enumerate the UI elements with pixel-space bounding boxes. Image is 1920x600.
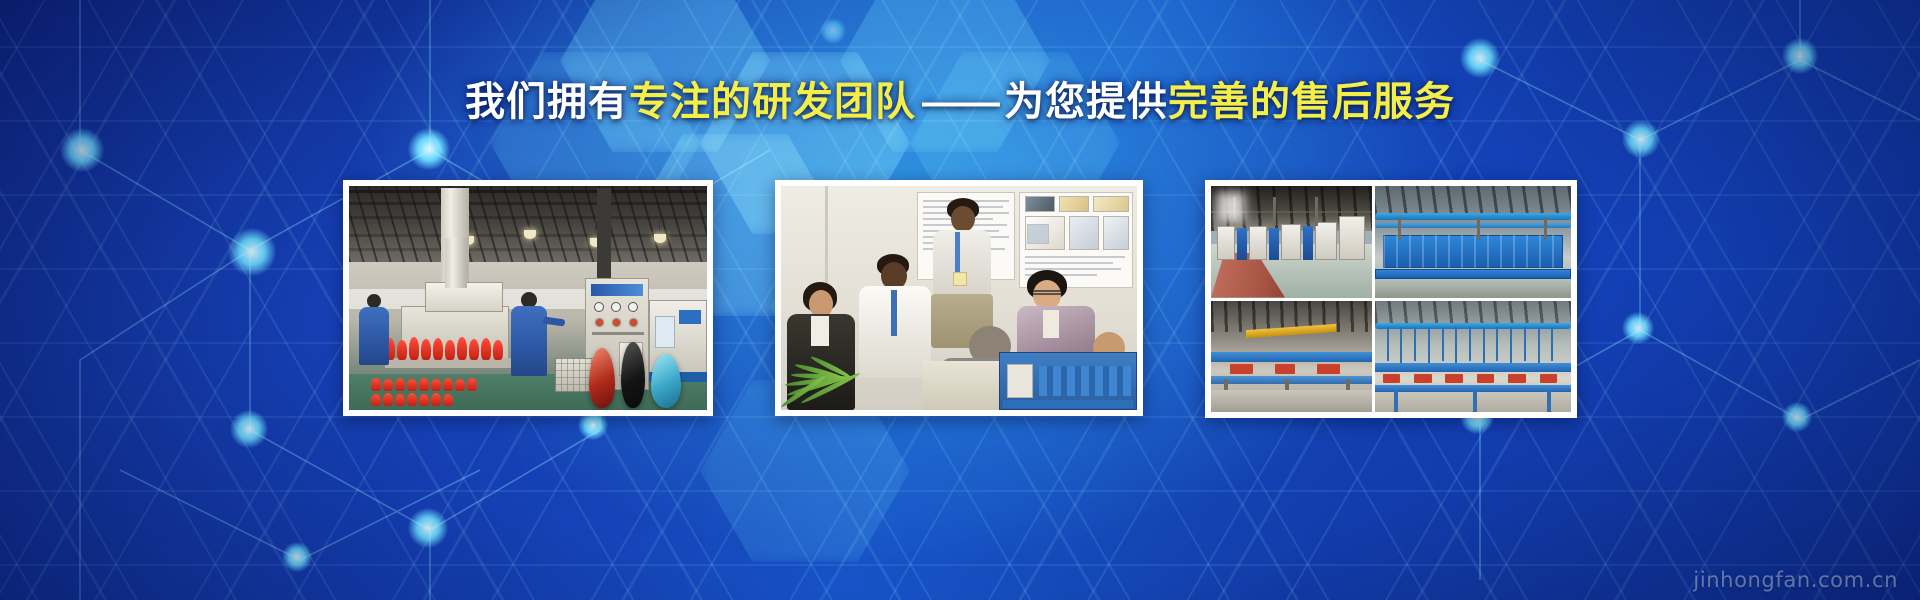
photo-frame-workshop-collage[interactable]: [1205, 180, 1577, 418]
site-watermark: jinhongfan.com.cn: [1693, 568, 1898, 592]
headline-segment-1: 我们拥有: [465, 80, 629, 124]
collage-cell-hall: [1211, 186, 1372, 298]
collage-cell-blue-tunnel: [1375, 186, 1571, 298]
headline-dash: ——: [916, 80, 1004, 124]
photo-frame-production-line[interactable]: [343, 180, 713, 416]
headline-segment-2: 专注的研发团队: [629, 80, 916, 124]
photo-gallery: [0, 180, 1920, 418]
banner-stage: 我们拥有专注的研发团队——为您提供完善的售后服务: [0, 0, 1920, 600]
photo-workshop-collage: [1211, 186, 1571, 412]
collage-cell-hanging-line: [1375, 301, 1571, 413]
photo-production-line: [349, 186, 707, 410]
collage-cell-conveyor: [1211, 301, 1372, 413]
headline-segment-4: 完善的售后服务: [1168, 80, 1455, 124]
headline-segment-3: 为您提供: [1004, 80, 1168, 124]
page-title: 我们拥有专注的研发团队——为您提供完善的售后服务: [0, 82, 1920, 122]
photo-frame-team-meeting[interactable]: [775, 180, 1143, 416]
photo-team-meeting: [781, 186, 1137, 410]
